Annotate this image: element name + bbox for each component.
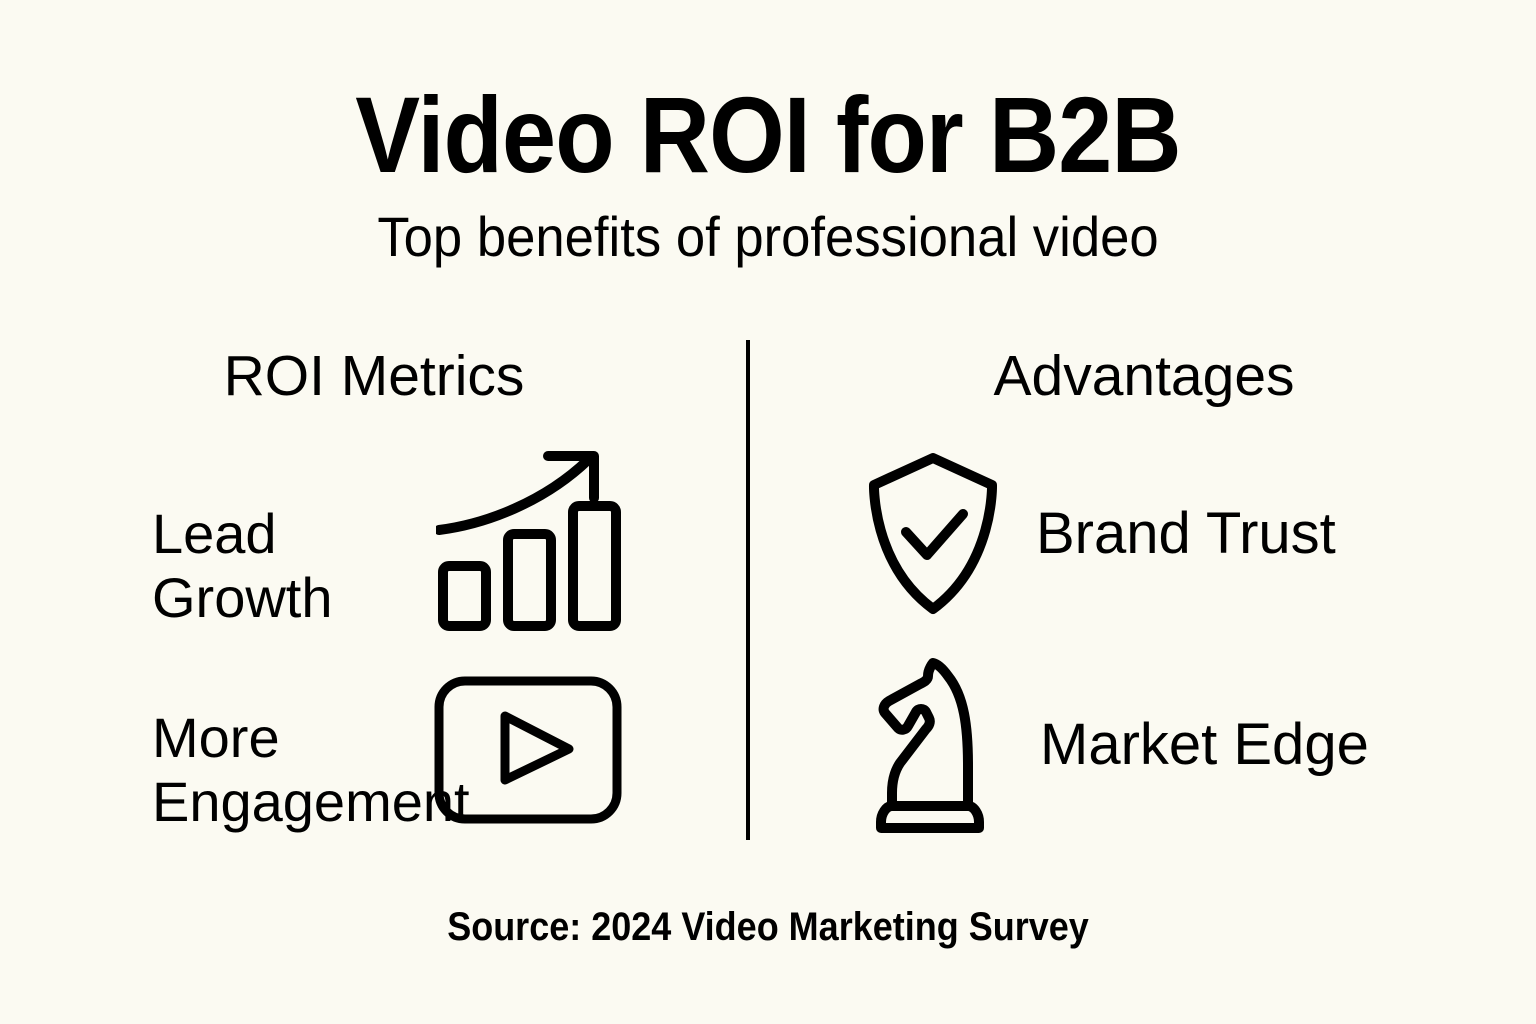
lead-growth-label: Lead Growth [152, 502, 333, 630]
left-column-heading: ROI Metrics [0, 348, 748, 405]
list-item-market-edge: Market Edge [876, 656, 1369, 834]
column-divider [746, 340, 750, 840]
chess-knight-icon [876, 656, 998, 834]
shield-check-icon [868, 452, 998, 615]
more-engagement-label-line1: More [152, 706, 470, 770]
page-title: Video ROI for B2B [77, 78, 1459, 191]
brand-trust-label: Brand Trust [1036, 505, 1336, 563]
infographic-canvas: Video ROI for B2B Top benefits of profes… [0, 0, 1536, 1024]
video-play-icon [434, 676, 622, 824]
lead-growth-label-line1: Lead [152, 502, 333, 566]
bar-chart-growth-icon [436, 446, 621, 631]
page-subtitle: Top benefits of professional video [46, 206, 1490, 268]
market-edge-label: Market Edge [1040, 716, 1369, 774]
more-engagement-label: More Engagement [152, 706, 470, 834]
lead-growth-label-line2: Growth [152, 566, 333, 630]
list-item-brand-trust: Brand Trust [868, 452, 1336, 615]
right-column-heading: Advantages [752, 348, 1536, 405]
more-engagement-label-line2: Engagement [152, 770, 470, 834]
source-note: Source: 2024 Video Marketing Survey [77, 905, 1459, 950]
